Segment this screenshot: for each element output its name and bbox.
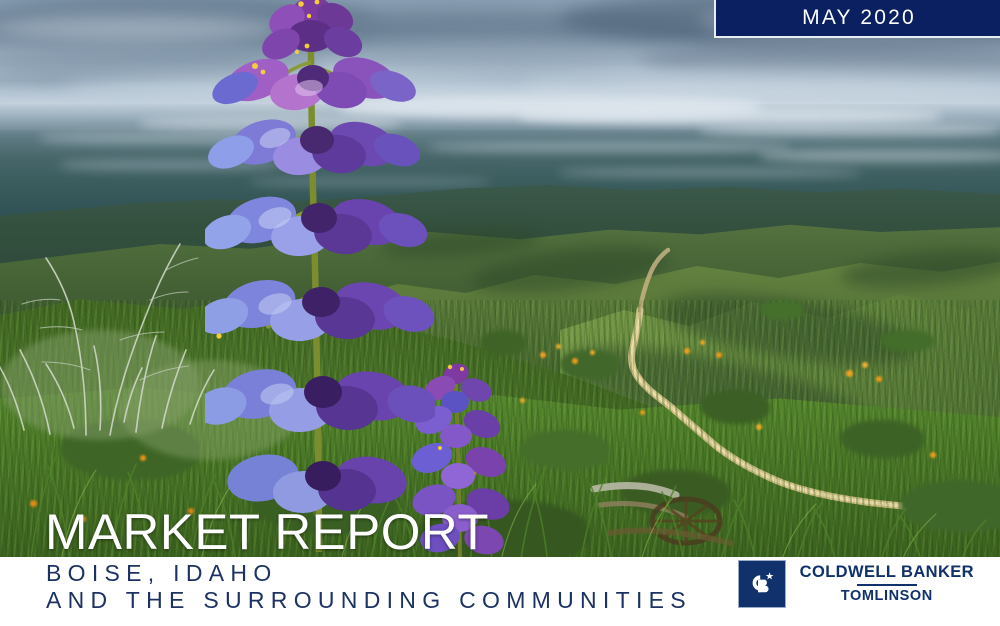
brand-divider: [857, 584, 917, 586]
market-report-cover: MAY 2020 MARKET REPORT BOISE, IDAHO AND …: [0, 0, 1000, 626]
wildflower-dot: [684, 348, 690, 354]
subtitle-location: BOISE, IDAHO: [46, 560, 278, 587]
cb-monogram-icon: [745, 567, 779, 601]
wildflower-dot: [590, 350, 595, 355]
wildflower-dot: [556, 344, 561, 349]
affiliate-name: TOMLINSON: [841, 588, 933, 605]
shrub: [880, 330, 934, 352]
wildflower-dot: [572, 358, 578, 364]
city-haze: [520, 108, 940, 124]
penstemon-wildflower-spike: [205, 0, 435, 552]
brand-logo: COLDWELL BANKER TOMLINSON: [738, 560, 974, 608]
date-banner-label: MAY 2020: [800, 6, 916, 30]
wildflower-dot: [700, 340, 705, 345]
cover-photo: [0, 0, 1000, 560]
city-haze: [760, 150, 1000, 162]
date-banner: MAY 2020: [714, 0, 1000, 38]
brand-wordmark: COLDWELL BANKER TOMLINSON: [800, 563, 974, 605]
page-title: MARKET REPORT: [45, 506, 489, 558]
city-haze: [560, 168, 860, 177]
city-haze: [700, 124, 1000, 136]
wildflower-dot: [540, 352, 546, 358]
subtitle-communities: AND THE SURROUNDING COMMUNITIES: [46, 587, 692, 614]
wildflower-dot: [716, 352, 722, 358]
coldwell-banker-cb-star-icon: [738, 560, 786, 608]
city-haze: [430, 142, 790, 152]
wildflower-dot: [846, 370, 853, 377]
wildflower-dot: [862, 362, 868, 368]
wildflower-dot: [876, 376, 882, 382]
brand-name: COLDWELL BANKER: [800, 563, 974, 582]
shrub: [760, 300, 804, 320]
